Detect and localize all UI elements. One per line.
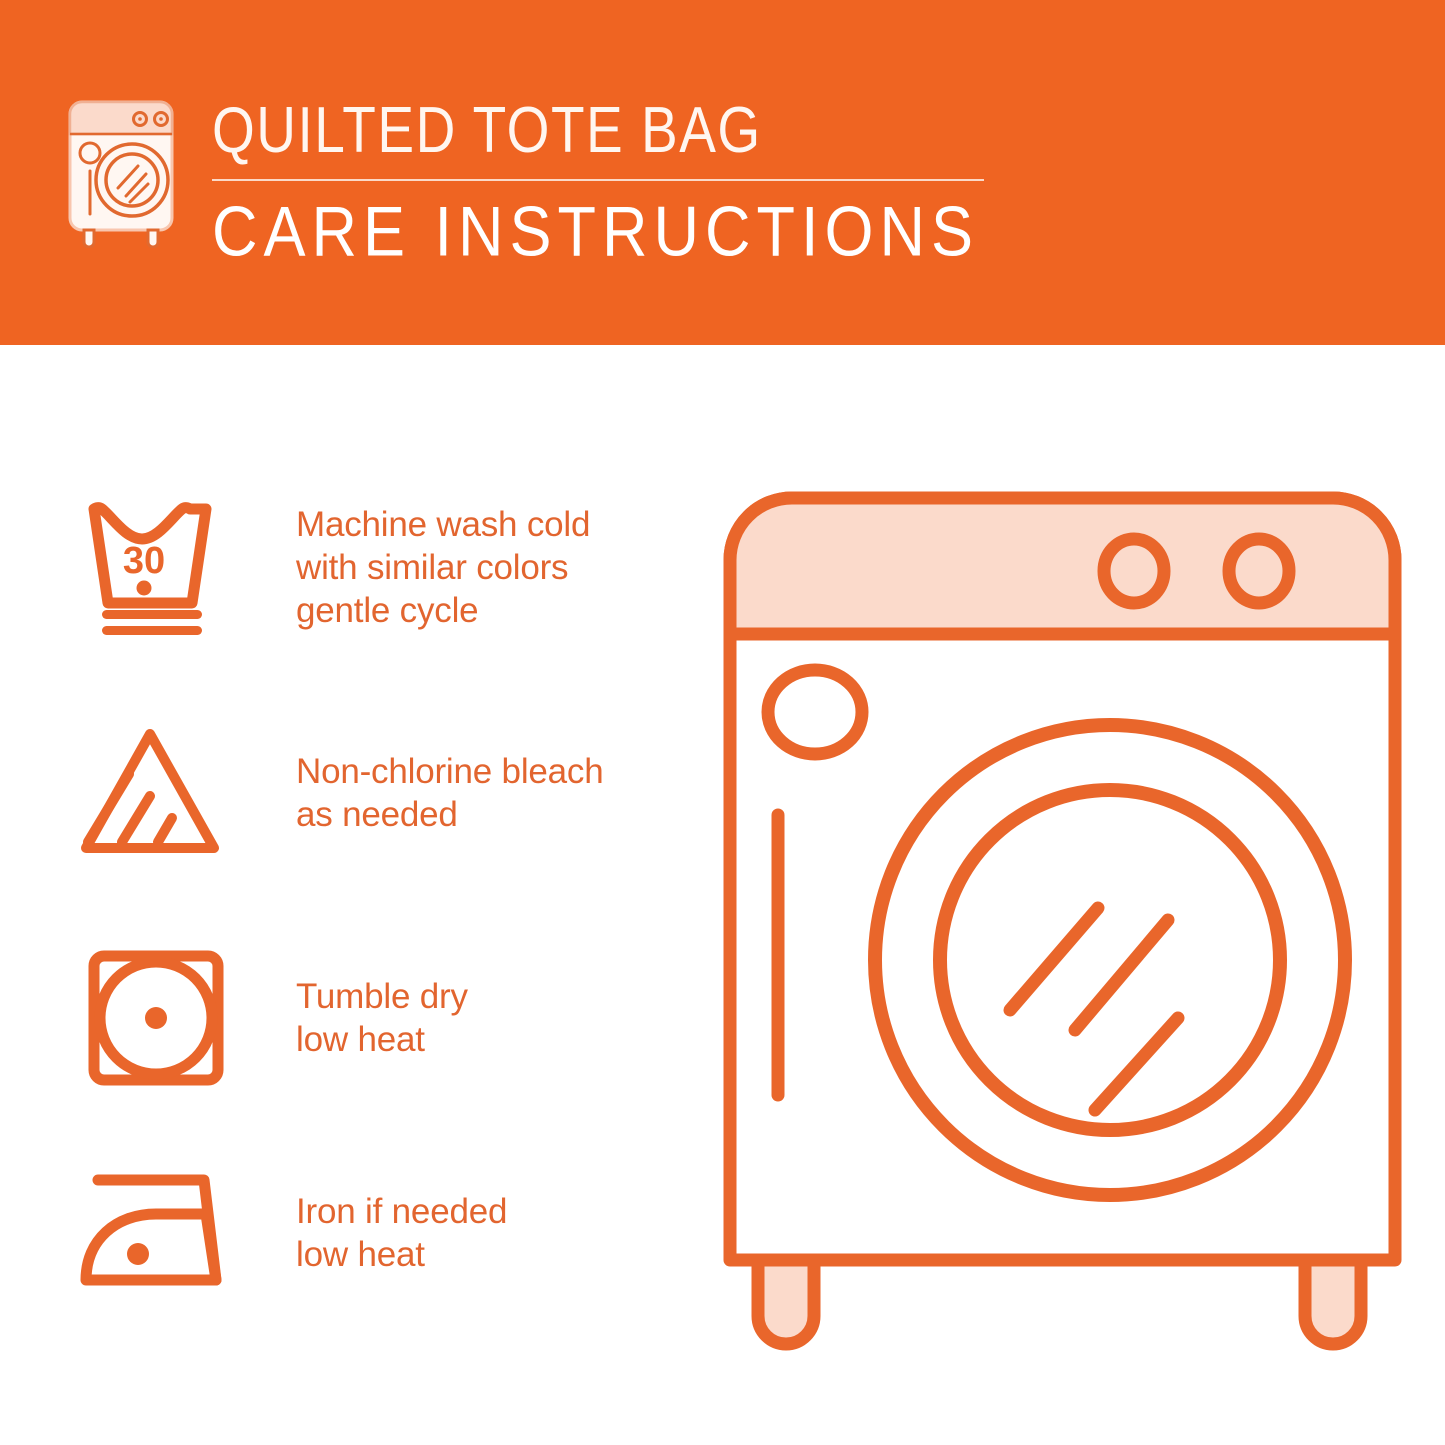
washing-machine-illustration <box>700 465 1425 1390</box>
header-band: QUILTED TOTE BAG CARE INSTRUCTIONS <box>0 0 1445 345</box>
care-row-tumble-dry: Tumble dry low heat <box>72 940 672 1095</box>
tumble-dry-low-heat-icon <box>72 940 232 1095</box>
care-label-tumble-dry: Tumble dry low heat <box>296 975 468 1061</box>
iron-low-heat-icon <box>72 1155 232 1310</box>
care-row-iron: Iron if needed low heat <box>72 1155 672 1310</box>
foot-left <box>758 1260 814 1344</box>
page-title: QUILTED TOTE BAG <box>212 94 1022 165</box>
svg-text:30: 30 <box>123 540 165 582</box>
care-instructions-page: QUILTED TOTE BAG CARE INSTRUCTIONS 30 <box>0 0 1445 1445</box>
care-label-bleach: Non-chlorine bleach as needed <box>296 750 604 836</box>
care-row-bleach: Non-chlorine bleach as needed <box>72 715 672 870</box>
title-divider <box>212 179 984 181</box>
care-instruction-list: 30 Machine wash cold with similar colors… <box>0 345 700 1445</box>
header-text-block: QUILTED TOTE BAG CARE INSTRUCTIONS <box>212 92 1022 262</box>
care-label-machine-wash: Machine wash cold with similar colors ge… <box>296 503 590 632</box>
page-subtitle: CARE INSTRUCTIONS <box>212 194 1022 270</box>
washing-machine-icon <box>62 96 180 248</box>
non-chlorine-bleach-triangle-icon <box>72 715 232 870</box>
machine-wash-30-gentle-icon: 30 <box>72 490 232 645</box>
header-content: QUILTED TOTE BAG CARE INSTRUCTIONS <box>62 92 1022 267</box>
control-panel <box>730 498 1395 634</box>
care-row-machine-wash: 30 Machine wash cold with similar colors… <box>72 490 672 645</box>
foot-right <box>1305 1260 1361 1344</box>
care-label-iron: Iron if needed low heat <box>296 1190 507 1276</box>
